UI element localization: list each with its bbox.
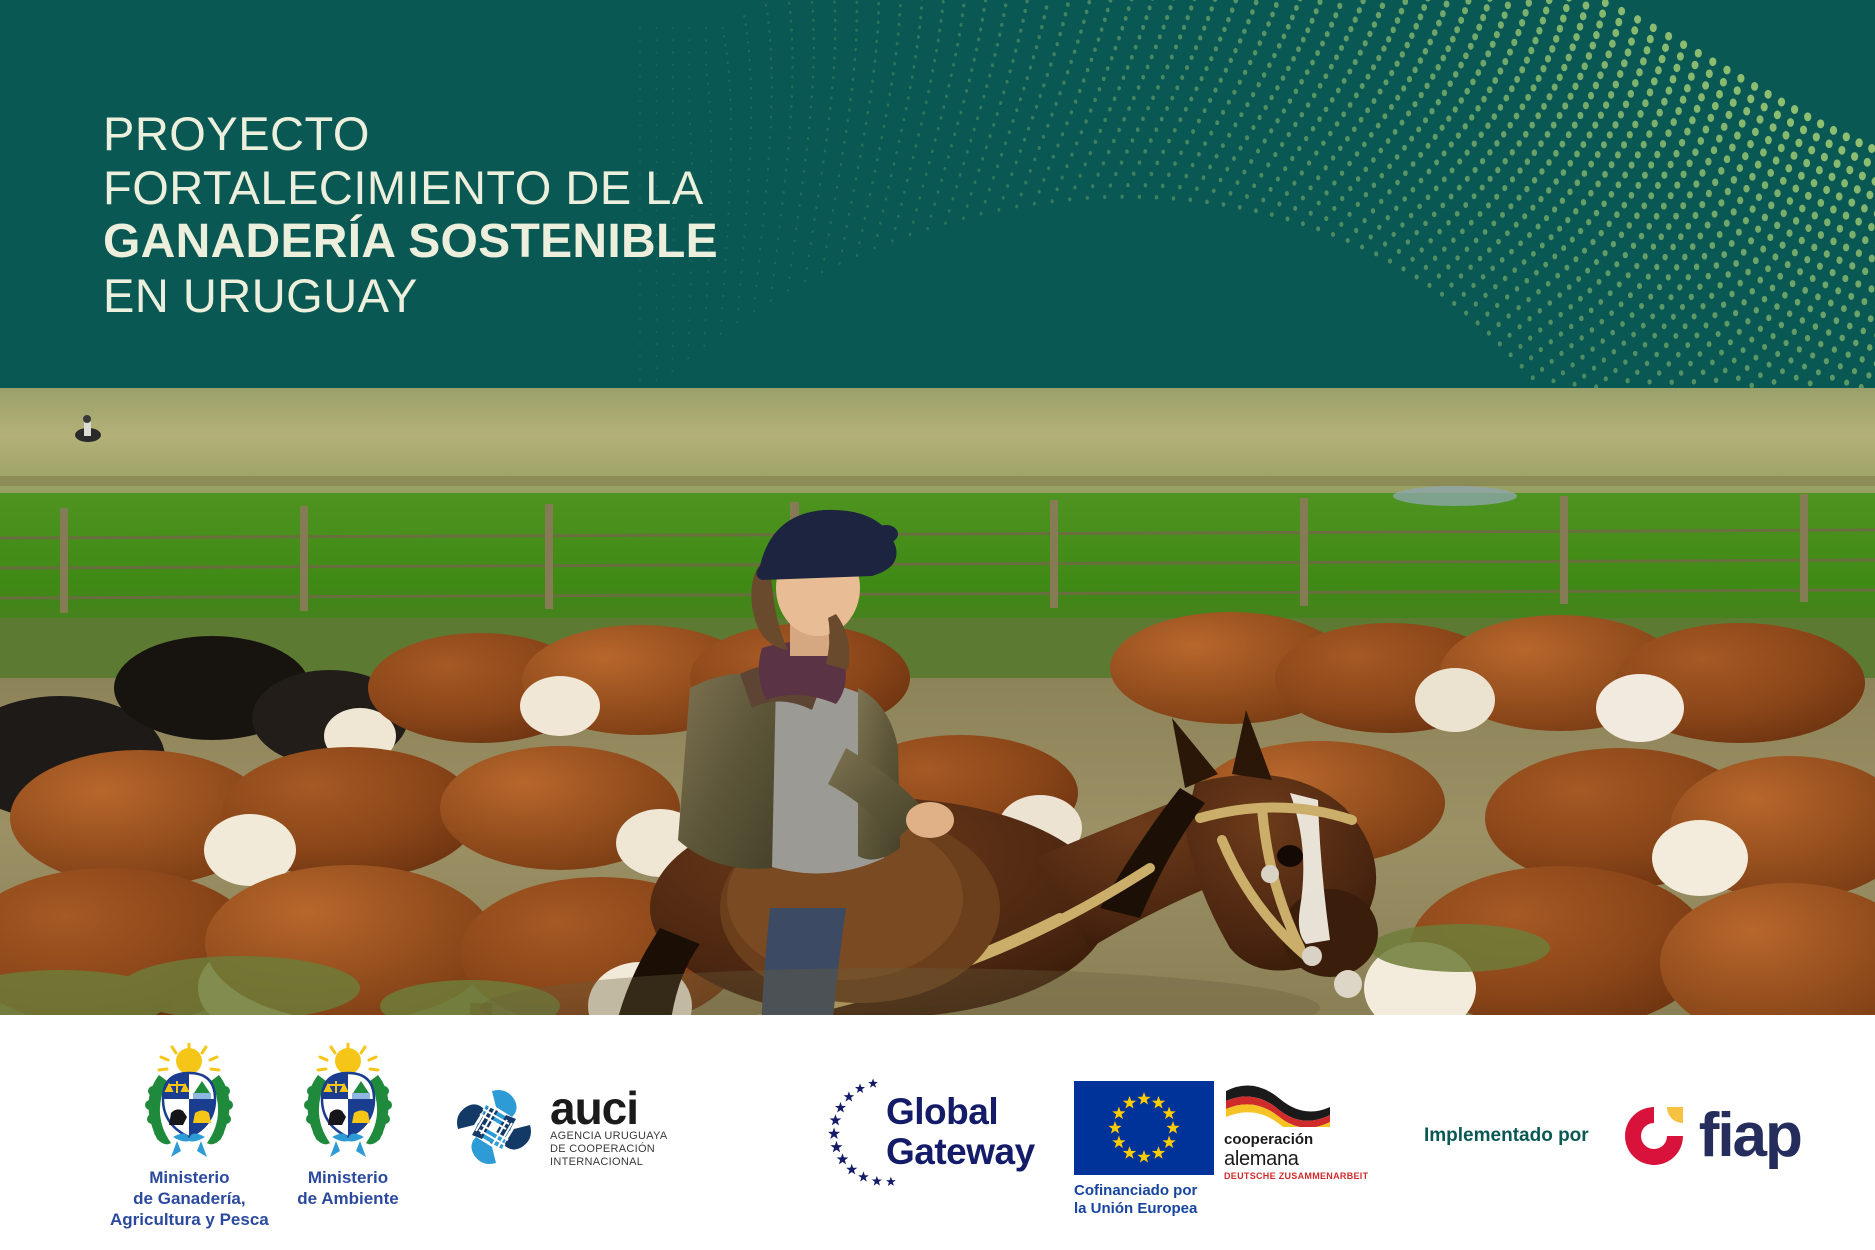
logo-auci[interactable]: auci AGENCIA URUGUAYA DE COOPERACIÓN INT… xyxy=(452,1085,667,1169)
cooperacion-alemana-caption: cooperación alemana DEUTSCHE ZUSAMMENARB… xyxy=(1224,1131,1368,1182)
title-line-1: PROYECTO xyxy=(103,107,718,161)
implemented-by-label: Implementado por xyxy=(1424,1125,1589,1147)
logo-ministerio-ambiente[interactable]: Ministerio de Ambiente xyxy=(288,1043,408,1209)
logo-ministerio-ganaderia[interactable]: Ministerio de Ganadería, Agricultura y P… xyxy=(110,1043,269,1230)
project-banner: PROYECTO FORTALECIMIENTO DE LA GANADERÍA… xyxy=(0,0,1875,1250)
ministerio-ganaderia-caption: Ministerio de Ganadería, Agricultura y P… xyxy=(110,1167,269,1230)
partner-logo-strip: Ministerio de Ganadería, Agricultura y P… xyxy=(0,1015,1875,1250)
title-line-3: GANADERÍA SOSTENIBLE xyxy=(103,215,718,269)
title-line-4: EN URUGUAY xyxy=(103,269,718,323)
uruguay-coat-of-arms-icon xyxy=(129,1043,249,1161)
banner-header: PROYECTO FORTALECIMIENTO DE LA GANADERÍA… xyxy=(0,0,1875,388)
auci-subtitle: AGENCIA URUGUAYA DE COOPERACIÓN INTERNAC… xyxy=(550,1130,667,1169)
eu-star-arc-icon xyxy=(790,1077,900,1187)
logo-fiap[interactable]: Implementado por fiap xyxy=(1424,1099,1801,1173)
logo-cooperacion-alemana[interactable]: cooperación alemana DEUTSCHE ZUSAMMENARB… xyxy=(1224,1081,1368,1182)
eu-flag-icon xyxy=(1074,1081,1214,1175)
logo-union-europea[interactable]: Cofinanciado por la Unión Europea xyxy=(1074,1081,1214,1218)
uruguay-coat-of-arms-icon xyxy=(288,1043,408,1161)
ministerio-ambiente-caption: Ministerio de Ambiente xyxy=(297,1167,398,1209)
auci-pinwheel-icon xyxy=(452,1085,536,1169)
hero-photo xyxy=(0,388,1875,1015)
logo-global-gateway[interactable]: Global Gateway xyxy=(790,1077,1035,1187)
title-line-2: FORTALECIMIENTO DE LA xyxy=(103,161,718,215)
union-europea-caption: Cofinanciado por la Unión Europea xyxy=(1074,1182,1197,1218)
page-title: PROYECTO FORTALECIMIENTO DE LA GANADERÍA… xyxy=(103,107,718,323)
global-gateway-wordmark: Global Gateway xyxy=(886,1092,1035,1172)
auci-wordmark: auci xyxy=(550,1086,667,1130)
german-flag-wave-icon xyxy=(1224,1081,1332,1127)
fiap-wordmark: fiap xyxy=(1699,1105,1801,1167)
fiap-mark-icon xyxy=(1617,1099,1691,1173)
